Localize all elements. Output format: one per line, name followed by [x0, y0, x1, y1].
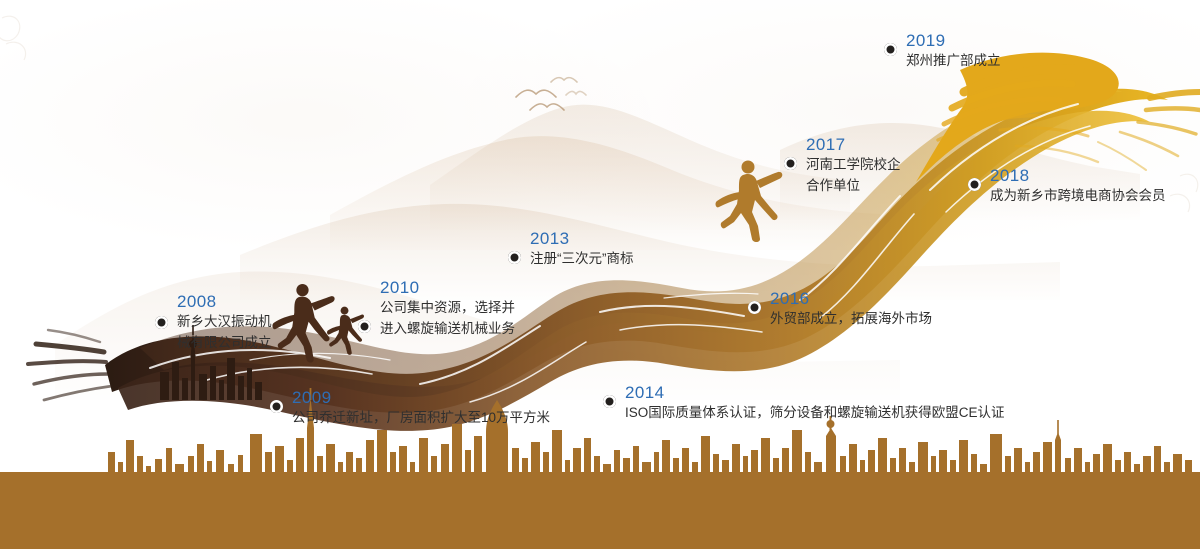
timeline-marker-2016[interactable] — [748, 301, 761, 314]
timeline-marker-2013[interactable] — [508, 251, 521, 264]
milestone-line: 进入螺旋输送机械业务 — [380, 318, 515, 339]
milestone-text-2018: 成为新乡市跨境电商协会会员 — [968, 185, 1166, 206]
milestone-line: ISO国际质量体系认证，筛分设备和螺旋输送机获得欧盟CE认证 — [625, 402, 1005, 423]
milestone-text-2014: ISO国际质量体系认证，筛分设备和螺旋输送机获得欧盟CE认证 — [603, 402, 1005, 423]
milestone-2009[interactable]: 2009 公司乔迁新址，厂房面积扩大至10万平方米 — [270, 388, 550, 428]
milestone-text-2017: 河南工学院校企 合作单位 — [784, 154, 901, 196]
milestone-year-2014: 2014 — [603, 383, 1005, 402]
timeline-marker-2017[interactable] — [784, 157, 797, 170]
milestone-line: 新乡大汉振动机 — [177, 311, 272, 332]
milestone-2017[interactable]: 2017 河南工学院校企 合作单位 — [784, 135, 901, 196]
milestone-line: 合作单位 — [806, 175, 901, 196]
milestone-text-2019: 郑州推广部成立 — [884, 50, 1001, 71]
milestone-year-2013: 2013 — [508, 229, 634, 248]
milestone-2013[interactable]: 2013 注册“三次元”商标 — [508, 229, 634, 269]
milestone-line: 郑州推广部成立 — [906, 50, 1001, 71]
milestone-line: 外贸部成立，拓展海外市场 — [770, 308, 932, 329]
milestone-line: 公司乔迁新址，厂房面积扩大至10万平方米 — [292, 407, 550, 428]
milestone-text-2010: 公司集中资源，选择并 进入螺旋输送机械业务 — [358, 297, 515, 339]
timeline-marker-2009[interactable] — [270, 400, 283, 413]
milestone-text-2016: 外贸部成立，拓展海外市场 — [748, 308, 932, 329]
milestone-year-2009: 2009 — [270, 388, 550, 407]
milestone-text-2009: 公司乔迁新址，厂房面积扩大至10万平方米 — [270, 407, 550, 428]
milestone-2010[interactable]: 2010 公司集中资源，选择并 进入螺旋输送机械业务 — [358, 278, 515, 339]
milestone-line: 公司集中资源，选择并 — [380, 297, 515, 318]
milestone-year-2010: 2010 — [358, 278, 515, 297]
timeline-marker-2014[interactable] — [603, 395, 616, 408]
city-skyline-icon — [0, 0, 1200, 549]
milestone-line: 河南工学院校企 — [806, 154, 901, 175]
milestone-line: 注册“三次元”商标 — [530, 248, 634, 269]
milestone-2008[interactable]: 2008 新乡大汉振动机 械有限公司成立 — [155, 292, 272, 353]
timeline-marker-2018[interactable] — [968, 178, 981, 191]
milestone-text-2013: 注册“三次元”商标 — [508, 248, 634, 269]
milestone-2019[interactable]: 2019 郑州推广部成立 — [884, 31, 1001, 71]
milestone-2016[interactable]: 2016 外贸部成立，拓展海外市场 — [748, 289, 932, 329]
timeline-marker-2008[interactable] — [155, 316, 168, 329]
milestone-year-2016: 2016 — [748, 289, 932, 308]
milestone-year-2008: 2008 — [155, 292, 272, 311]
milestone-line: 成为新乡市跨境电商协会会员 — [990, 185, 1166, 206]
milestone-year-2019: 2019 — [884, 31, 1001, 50]
milestone-year-2017: 2017 — [784, 135, 901, 154]
timeline-marker-2010[interactable] — [358, 320, 371, 333]
timeline-marker-2019[interactable] — [884, 43, 897, 56]
milestone-text-2008: 新乡大汉振动机 械有限公司成立 — [155, 311, 272, 353]
milestone-2014[interactable]: 2014 ISO国际质量体系认证，筛分设备和螺旋输送机获得欧盟CE认证 — [603, 383, 1005, 423]
timeline-infographic: 2008 新乡大汉振动机 械有限公司成立 2009 公司乔迁新址，厂房面积扩大至… — [0, 0, 1200, 549]
milestone-2018[interactable]: 2018 成为新乡市跨境电商协会会员 — [968, 166, 1166, 206]
milestone-year-2018: 2018 — [968, 166, 1166, 185]
milestone-line: 械有限公司成立 — [177, 332, 272, 353]
